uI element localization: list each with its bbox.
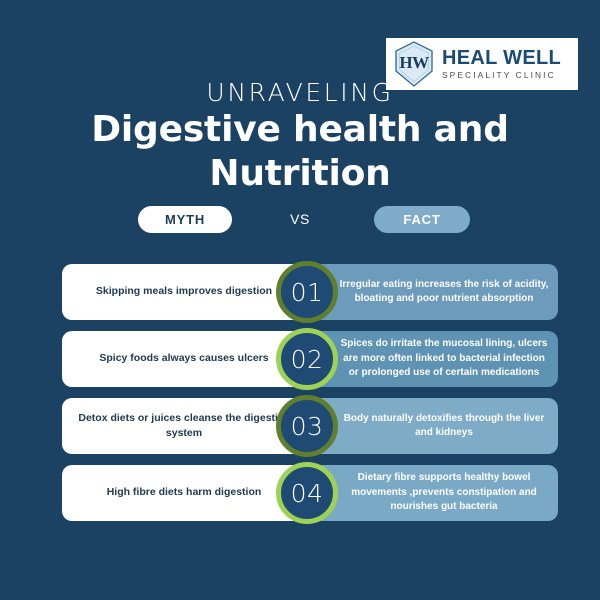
fact-card: Spices do irritate the mucosal lining, u… bbox=[300, 331, 558, 387]
step-number-badge: 01 bbox=[276, 261, 338, 323]
step-number-badge: 03 bbox=[276, 395, 338, 457]
myth-text: Skipping meals improves digestion bbox=[96, 284, 272, 299]
legend-row: MYTH VS FACT bbox=[0, 206, 600, 236]
myth-fact-row: Skipping meals improves digestionIrregul… bbox=[0, 264, 600, 320]
myth-text: Spicy foods always causes ulcers bbox=[99, 351, 268, 366]
myth-fact-row: Spicy foods always causes ulcersSpices d… bbox=[0, 331, 600, 387]
fact-legend-pill: FACT bbox=[374, 206, 470, 233]
vs-label: VS bbox=[270, 206, 330, 233]
myth-fact-row: High fibre diets harm digestionDietary f… bbox=[0, 465, 600, 521]
page-title: Digestive health and Nutrition bbox=[60, 108, 540, 196]
logo-monogram: HW bbox=[399, 53, 428, 73]
fact-card: Irregular eating increases the risk of a… bbox=[300, 264, 558, 320]
myth-fact-row: Detox diets or juices cleanse the digest… bbox=[0, 398, 600, 454]
step-number-badge: 04 bbox=[276, 462, 338, 524]
step-number: 02 bbox=[291, 345, 324, 374]
kicker-text: UNRAVELING bbox=[0, 78, 600, 107]
fact-card: Dietary fibre supports healthy bowel mov… bbox=[300, 465, 558, 521]
step-number: 01 bbox=[291, 278, 324, 307]
step-number: 03 bbox=[291, 412, 324, 441]
myth-legend-pill: MYTH bbox=[138, 206, 232, 233]
step-number: 04 bbox=[291, 479, 324, 508]
fact-text: Dietary fibre supports healthy bowel mov… bbox=[338, 471, 550, 515]
step-number-badge: 02 bbox=[276, 328, 338, 390]
fact-text: Irregular eating increases the risk of a… bbox=[338, 278, 550, 307]
fact-text: Body naturally detoxifies through the li… bbox=[338, 412, 550, 441]
myth-text: High fibre diets harm digestion bbox=[107, 485, 262, 500]
fact-text: Spices do irritate the mucosal lining, u… bbox=[338, 337, 550, 381]
myth-fact-list: Skipping meals improves digestionIrregul… bbox=[0, 264, 600, 532]
fact-card: Body naturally detoxifies through the li… bbox=[300, 398, 558, 454]
logo-name: HEAL WELL bbox=[442, 48, 561, 68]
myth-text: Detox diets or juices cleanse the digest… bbox=[76, 411, 292, 441]
logo-wordmark: HEAL WELL SPECIALITY CLINIC bbox=[442, 48, 561, 79]
